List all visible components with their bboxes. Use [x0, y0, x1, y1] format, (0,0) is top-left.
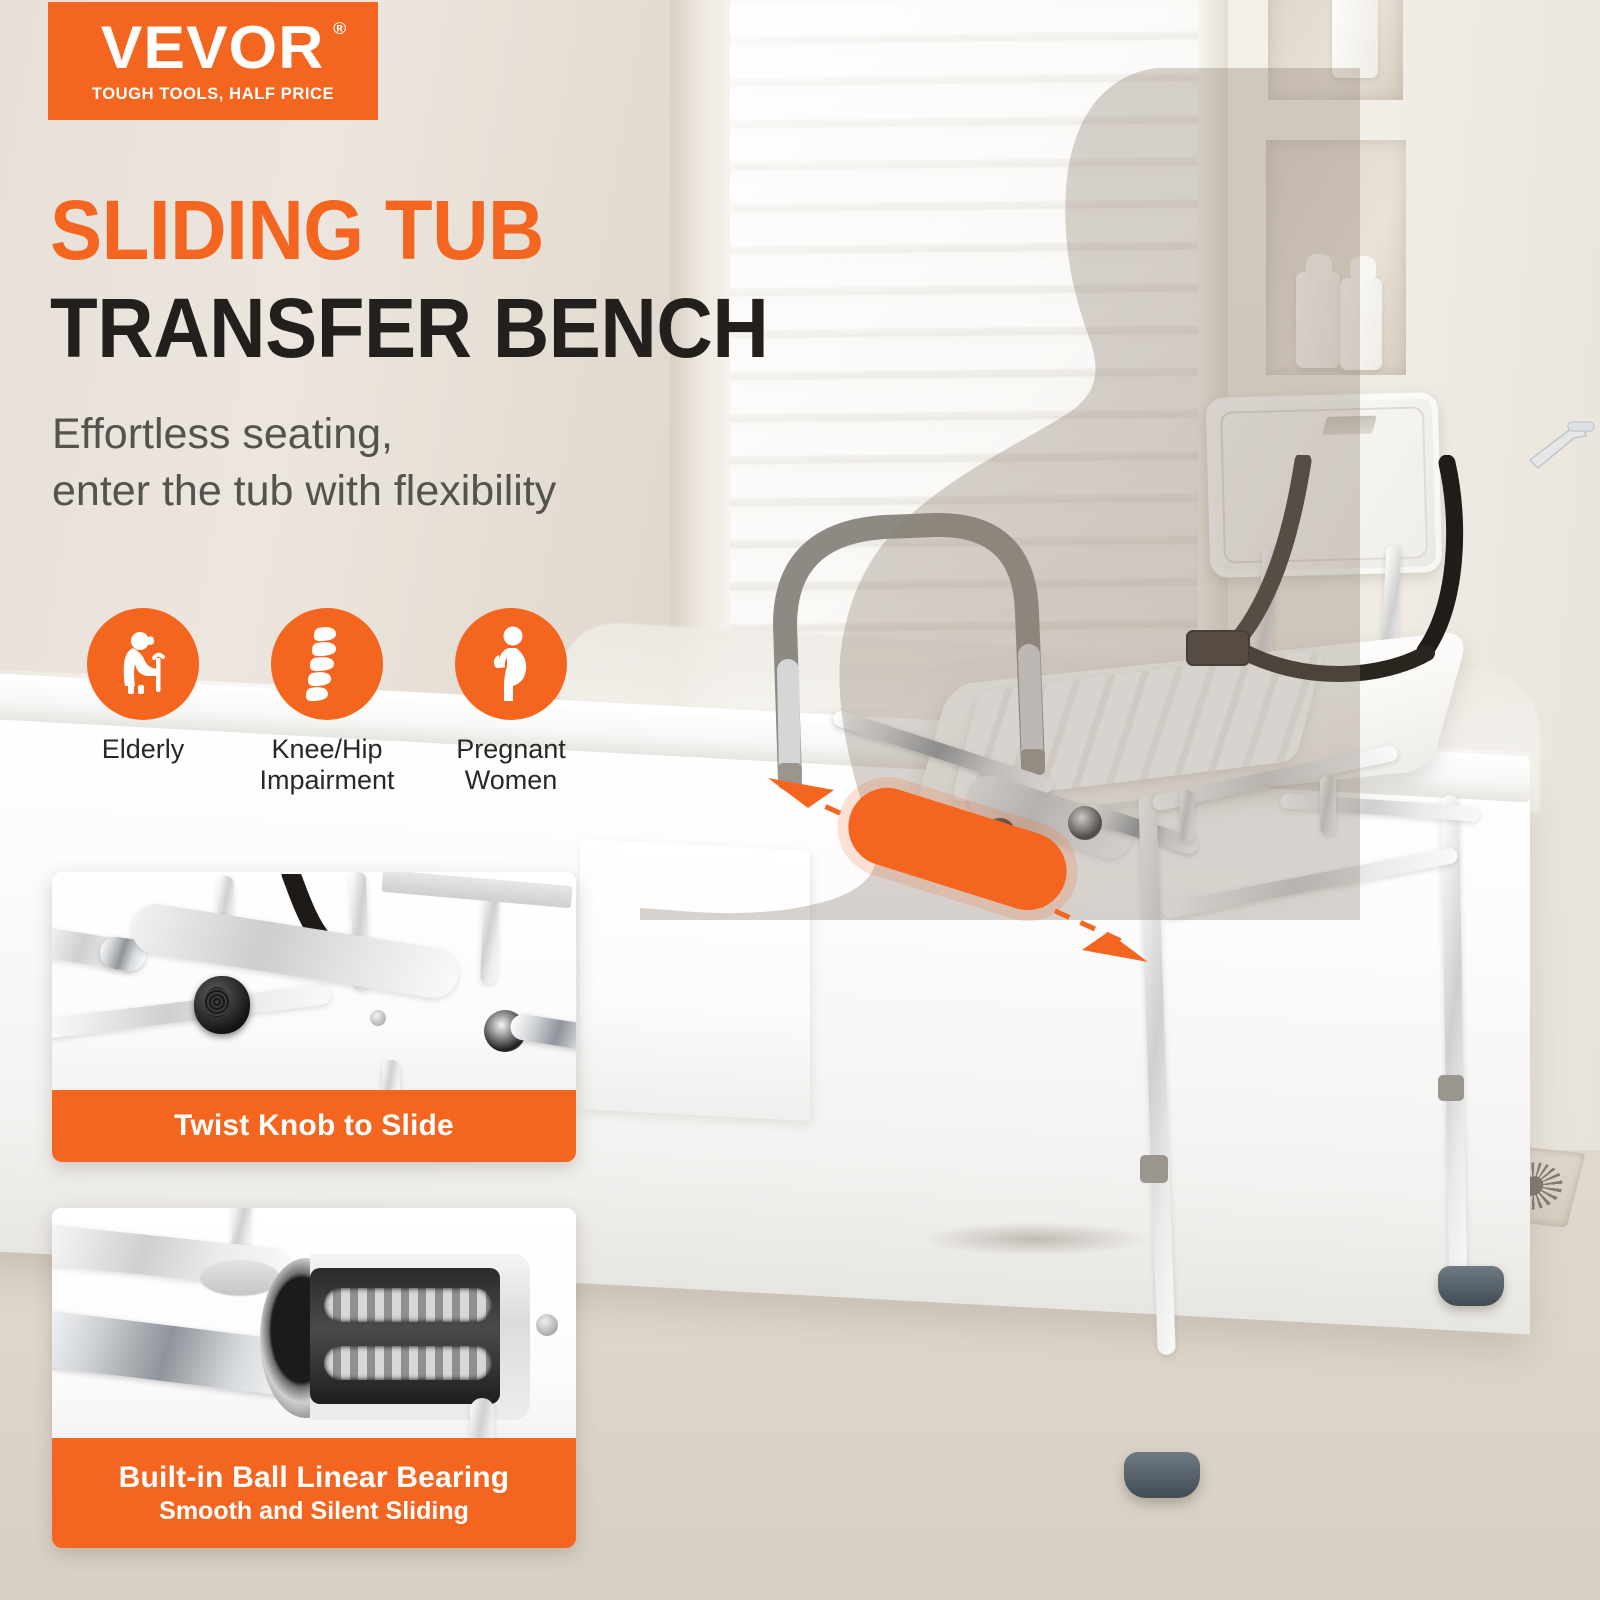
faucet-icon [1520, 420, 1598, 476]
badge-label-line-2: Women [456, 765, 566, 796]
headline-line-1: SLIDING TUB [50, 190, 544, 271]
badge-label: Elderly [102, 734, 185, 765]
caption-sub-text: Smooth and Silent Sliding [159, 1497, 469, 1526]
feature-panel-twist-knob: Twist Knob to Slide [52, 872, 576, 1162]
feature-caption-ball-bearing: Built-in Ball Linear Bearing Smooth and … [52, 1438, 576, 1548]
subheadline-line-2: enter the tub with flexibility [52, 463, 556, 520]
audience-badge-elderly: Elderly [68, 608, 218, 796]
lower-post [470, 1398, 494, 1438]
badge-circle [455, 608, 567, 720]
caption-main-text: Built-in Ball Linear Bearing [119, 1461, 510, 1495]
logo-text: VEVOR [101, 14, 325, 81]
subheadline-line-1: Effortless seating, [52, 406, 556, 463]
registered-trademark-icon: ® [334, 20, 348, 37]
feature-caption-twist-knob: Twist Knob to Slide [52, 1090, 576, 1162]
badge-label-line-2: Impairment [259, 765, 394, 796]
screw [536, 1314, 558, 1336]
headline-line-2: TRANSFER BENCH [50, 288, 768, 369]
badge-label-line-1: Elderly [102, 734, 185, 765]
bench-leg-shadow [920, 1222, 1150, 1256]
product-marketing-image: VEVOR® TOUGH TOOLS, HALF PRICE SLIDING T… [0, 0, 1600, 1600]
rubber-foot-back [1438, 1266, 1504, 1306]
caption-main-text: Twist Knob to Slide [174, 1109, 454, 1143]
audience-badge-pregnant: Pregnant Women [436, 608, 586, 796]
badge-circle [87, 608, 199, 720]
elderly-person-with-cane-icon [107, 628, 179, 700]
spine-vertebrae-icon [294, 626, 360, 702]
ball-track-upper [324, 1288, 492, 1322]
feature-photo-twist-knob [52, 872, 576, 1090]
arrow-head-left [768, 778, 834, 808]
subheadline: Effortless seating, enter the tub with f… [52, 406, 556, 520]
leg-adjust-collar-2 [1438, 1075, 1464, 1101]
pregnant-woman-icon [479, 625, 543, 703]
twist-knob[interactable] [194, 976, 250, 1034]
badge-label-line-1: Knee/Hip [259, 734, 394, 765]
badge-circle [271, 608, 383, 720]
logo-tagline: TOUGH TOOLS, HALF PRICE [92, 85, 334, 104]
audience-badge-knee-hip: Knee/Hip Impairment [252, 608, 402, 796]
feature-photo-ball-bearing [52, 1208, 576, 1438]
badge-label: Knee/Hip Impairment [259, 734, 394, 796]
vevor-logo: VEVOR® TOUGH TOOLS, HALF PRICE [48, 2, 378, 120]
badge-label-line-1: Pregnant [456, 734, 566, 765]
vertical-post [382, 1060, 400, 1090]
bearing-cutaway-body [310, 1254, 530, 1420]
feature-panel-ball-bearing: Built-in Ball Linear Bearing Smooth and … [52, 1208, 576, 1548]
screw [370, 1010, 386, 1026]
leg-adjust-collar-1 [1140, 1155, 1168, 1183]
rubber-foot-front [1124, 1452, 1200, 1498]
ball-track-lower [324, 1346, 492, 1380]
badge-label: Pregnant Women [456, 734, 566, 796]
audience-badge-group: Elderly Knee/Hip Impairment [68, 608, 628, 796]
logo-wordmark: VEVOR® [101, 18, 325, 78]
